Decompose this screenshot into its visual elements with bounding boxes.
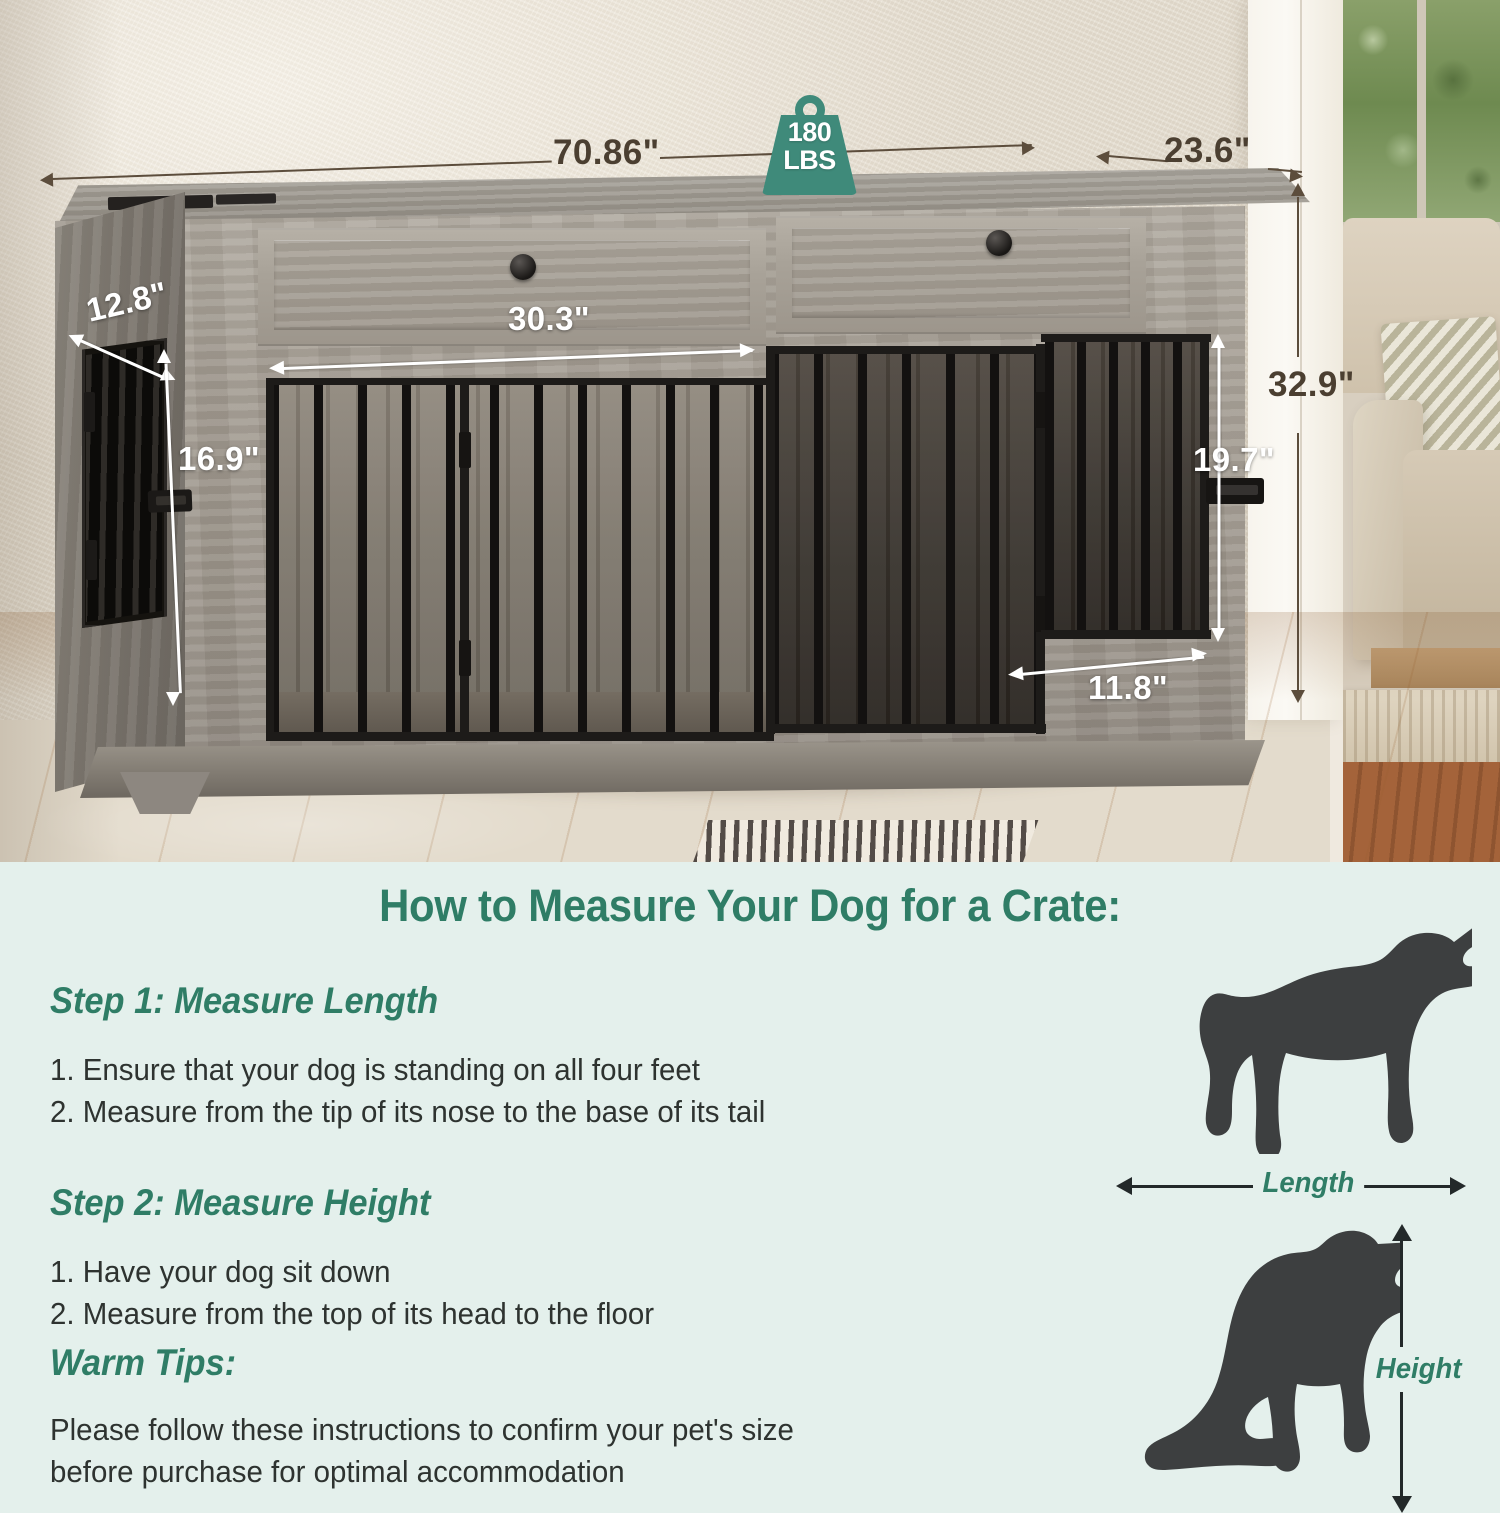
warm-tips-line-2: before purchase for optimal accommodatio… bbox=[50, 1454, 625, 1490]
width-arrow-left bbox=[40, 173, 53, 187]
right-drawer-knob[interactable] bbox=[986, 230, 1012, 256]
dim-overall-height: 32.9" bbox=[1268, 365, 1355, 405]
height-arrow-bottom bbox=[1392, 1496, 1412, 1513]
sitting-dog-silhouette bbox=[1140, 1222, 1400, 1484]
center-door-bars[interactable] bbox=[770, 352, 1042, 732]
step-2-heading: Step 2: Measure Height bbox=[50, 1182, 431, 1224]
length-arrow-left bbox=[1116, 1177, 1132, 1195]
step-1-line-1: 1. Ensure that your dog is standing on a… bbox=[50, 1052, 700, 1088]
side-door-hinge-upper bbox=[84, 392, 95, 432]
right-door-height-arrow-top bbox=[1211, 334, 1225, 348]
step-1-heading: Step 1: Measure Length bbox=[50, 980, 438, 1022]
right-door-latch[interactable] bbox=[1206, 478, 1264, 504]
dim-overall-depth: 23.6" bbox=[1164, 131, 1251, 171]
side-door-hinge-lower bbox=[86, 540, 97, 580]
step-2-line-2: 2. Measure from the top of its head to t… bbox=[50, 1296, 654, 1332]
weight-value: 180 bbox=[762, 119, 857, 147]
right-door-height-dim-line bbox=[1218, 348, 1221, 638]
height-dim-line-upper bbox=[1297, 197, 1299, 357]
left-door-height-arrow-top bbox=[157, 349, 171, 363]
dim-left-door-height: 16.9" bbox=[178, 440, 260, 478]
width-arrow-right bbox=[1022, 141, 1035, 155]
left-door-frame-left bbox=[266, 378, 274, 741]
height-dim-line-lower bbox=[1297, 433, 1299, 701]
window-mullion bbox=[1417, 0, 1426, 230]
depth-arrow-left bbox=[1095, 149, 1109, 164]
left-door-height-arrow-bottom bbox=[166, 692, 180, 706]
right-door-height-arrow-bottom bbox=[1211, 628, 1225, 642]
warm-tips-heading: Warm Tips: bbox=[50, 1342, 236, 1384]
measure-instructions-panel: How to Measure Your Dog for a Crate: Ste… bbox=[0, 862, 1500, 1500]
drawer-width-arrow-left bbox=[269, 361, 285, 376]
step-1-line-2: 2. Measure from the tip of its nose to t… bbox=[50, 1094, 765, 1130]
length-arrow-right bbox=[1450, 1177, 1466, 1195]
weight-badge-text: 180 LBS bbox=[762, 119, 857, 174]
left-door-hinge-lower bbox=[459, 640, 471, 676]
length-label: Length bbox=[1253, 1167, 1364, 1200]
right-door-bars[interactable] bbox=[1045, 338, 1205, 638]
weight-capacity-badge: 180 LBS bbox=[762, 95, 857, 195]
right-door-width-arrow-right bbox=[1191, 646, 1207, 661]
dim-overall-width: 70.86" bbox=[553, 133, 660, 173]
right-door-frame-bottom bbox=[1041, 630, 1211, 639]
product-photo: 70.86" 23.6" 32.9" 12.8" 30.3" 16.9" 19.… bbox=[0, 0, 1500, 862]
side-door-bars[interactable] bbox=[86, 344, 162, 622]
dim-right-door-height: 19.7" bbox=[1193, 441, 1275, 479]
right-drawer-grain bbox=[792, 228, 1130, 318]
drawer-width-arrow-right bbox=[740, 343, 756, 358]
height-label: Height bbox=[1372, 1347, 1465, 1392]
left-door-bars[interactable] bbox=[270, 382, 770, 738]
right-drawer[interactable] bbox=[776, 216, 1146, 334]
dim-right-door-width: 11.8" bbox=[1088, 669, 1168, 707]
right-door-width-arrow-left bbox=[1007, 666, 1023, 681]
depth-arrow-right bbox=[1289, 168, 1303, 183]
weight-unit: LBS bbox=[762, 147, 857, 175]
left-door-hinge-upper bbox=[459, 432, 471, 468]
height-arrow-bottom bbox=[1291, 690, 1305, 703]
center-door-frame-left bbox=[766, 346, 775, 734]
right-door-frame-top bbox=[1041, 334, 1211, 342]
warm-tips-line-1: Please follow these instructions to conf… bbox=[50, 1412, 794, 1448]
left-door-frame-top bbox=[266, 378, 774, 385]
standing-dog-silhouette bbox=[1142, 924, 1472, 1154]
center-door-frame-top bbox=[766, 346, 1046, 354]
left-drawer-knob[interactable] bbox=[510, 254, 536, 280]
center-door-frame-bottom bbox=[766, 724, 1046, 733]
height-arrow-top bbox=[1291, 183, 1305, 196]
right-drawer-face bbox=[792, 228, 1130, 318]
top-hardware-bracket-2 bbox=[216, 193, 276, 204]
height-arrow-top bbox=[1392, 1224, 1412, 1241]
left-door-frame-bottom bbox=[266, 732, 774, 741]
dim-drawer-width: 30.3" bbox=[508, 300, 590, 338]
step-2-line-1: 1. Have your dog sit down bbox=[50, 1254, 391, 1290]
